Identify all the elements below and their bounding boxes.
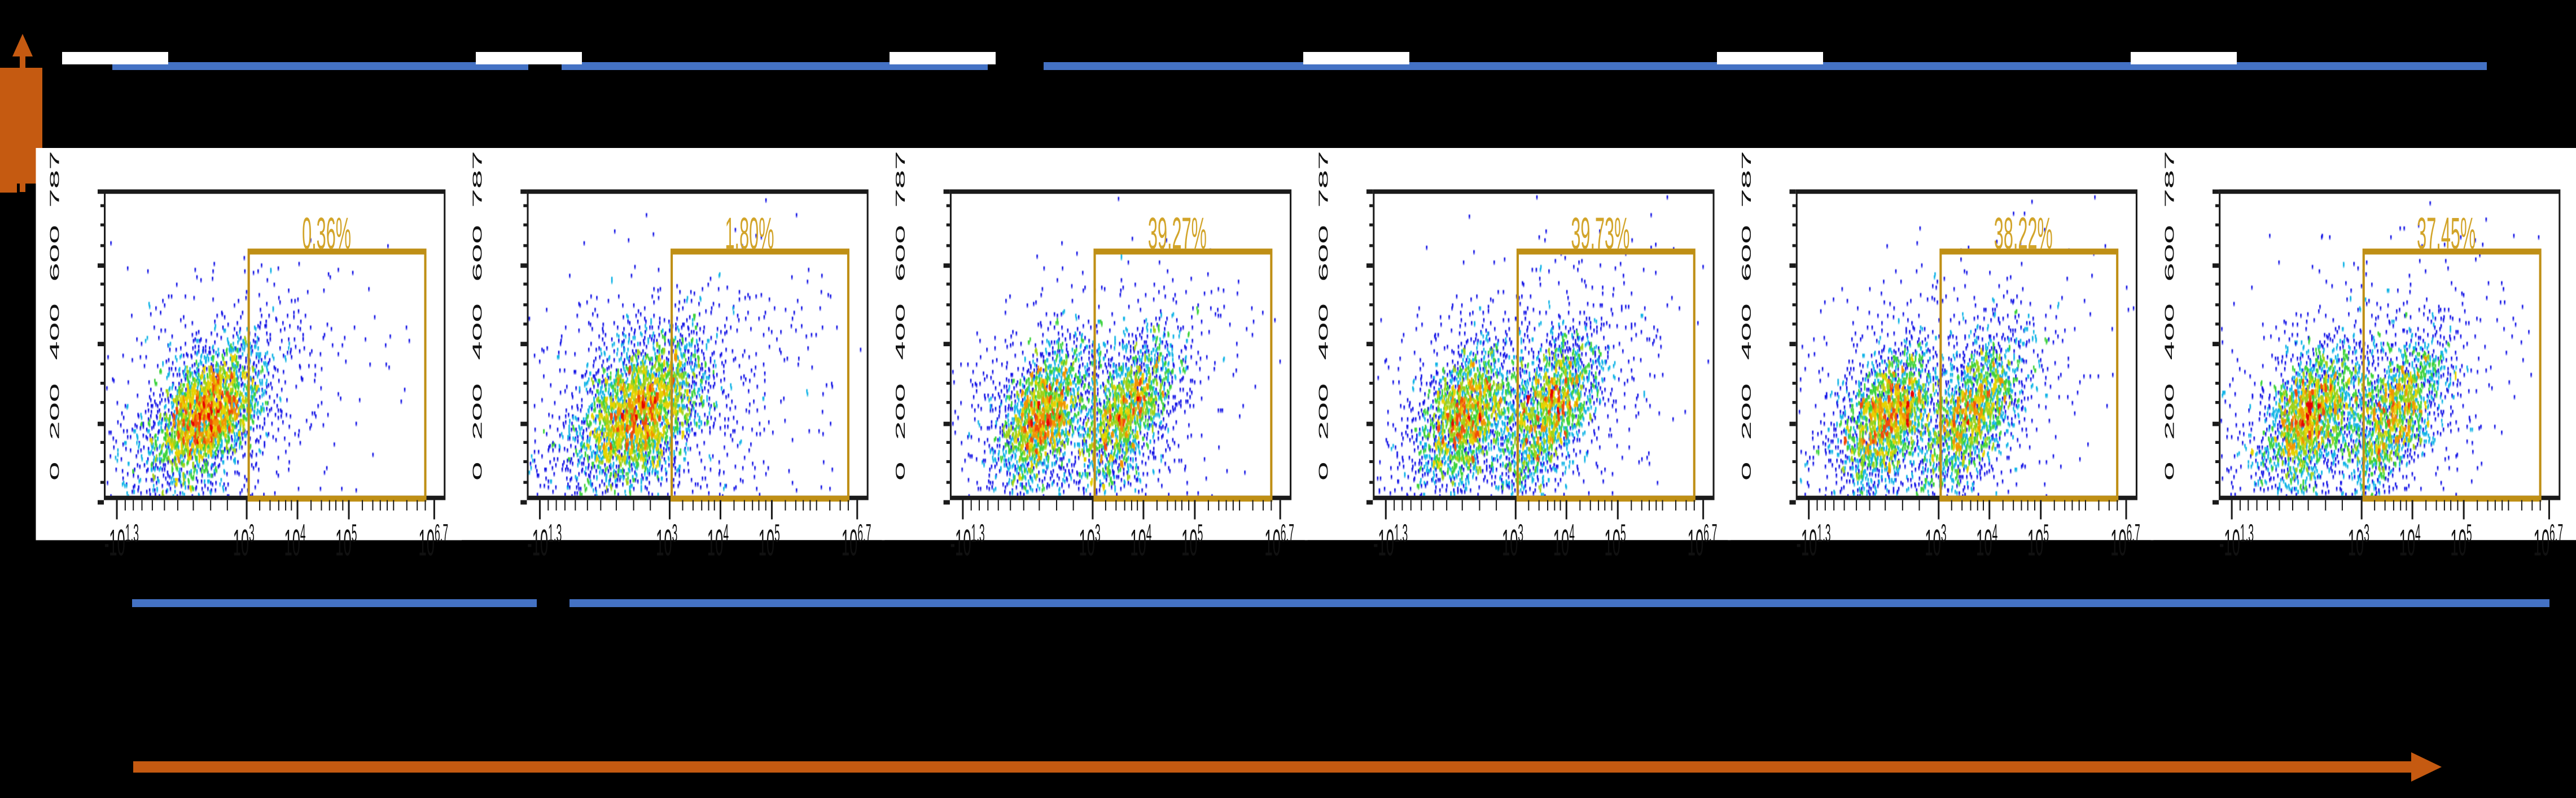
x-tick-minor <box>734 500 735 511</box>
x-tick-major <box>2412 500 2413 520</box>
x-tick-minor <box>2257 500 2258 511</box>
x-tick-minor <box>2054 500 2055 511</box>
x-tick-major <box>1194 500 1196 520</box>
y-tick-major <box>1366 189 1373 194</box>
y-tick-minor <box>100 461 104 464</box>
y-tick-label: 400 <box>894 304 908 361</box>
x-tick-label: 103 <box>1925 521 1946 562</box>
gate-rectangle[interactable] <box>671 248 850 502</box>
y-tick-minor <box>1369 204 1373 207</box>
x-tick-minor <box>601 500 602 511</box>
x-tick-minor <box>556 500 557 511</box>
x-tick-minor <box>744 500 745 511</box>
x-tick-minor <box>586 500 588 511</box>
x-tick-major <box>1280 500 1281 520</box>
x-tick-label: -101.3 <box>2219 521 2254 562</box>
x-tick-major <box>1938 500 1939 520</box>
y-tick-major <box>944 500 950 505</box>
y-tick-minor <box>523 481 527 483</box>
y-tick-minor <box>1793 303 1796 306</box>
x-tick-minor <box>1631 500 1632 511</box>
x-tick-minor <box>2531 500 2533 511</box>
y-tick-minor <box>2215 382 2219 385</box>
y-axis: 7876004002000 <box>882 148 908 540</box>
x-tick-minor <box>1919 500 1920 511</box>
x-tick-minor <box>2521 500 2522 511</box>
plot-area <box>950 189 1291 500</box>
x-tick-minor <box>2109 500 2110 511</box>
x-tick-label: 104 <box>1553 521 1575 562</box>
x-tick-minor <box>2027 500 2029 511</box>
y-tick-label: 400 <box>1740 304 1754 361</box>
y-tick-minor <box>2215 283 2219 286</box>
y-tick-minor <box>947 402 950 404</box>
y-tick-minor <box>2215 204 2219 207</box>
x-tick-minor <box>2451 500 2452 511</box>
y-tick-major <box>98 189 104 194</box>
x-tick-minor <box>417 500 418 511</box>
x-tick-minor <box>1902 500 1903 511</box>
x-tick-label: 104 <box>1976 521 1997 562</box>
x-tick-minor <box>2406 500 2407 511</box>
y-tick-minor <box>947 303 950 306</box>
x-tick-major <box>1514 500 1516 520</box>
y-tick-minor <box>2215 441 2219 444</box>
x-tick-label: 105 <box>2450 521 2472 562</box>
y-tick-minor <box>1369 461 1373 464</box>
x-tick-minor <box>1462 500 1463 511</box>
y-tick-major <box>1366 500 1373 505</box>
x-tick-minor <box>2248 500 2249 511</box>
gate-rectangle[interactable] <box>1517 248 1696 502</box>
y-tick-minor <box>947 461 950 464</box>
y-tick-major <box>1789 500 1795 505</box>
y-tick-minor <box>1793 382 1796 385</box>
x-tick-minor <box>979 500 980 511</box>
x-tick-minor <box>616 500 617 511</box>
y-tick-major <box>2213 263 2219 268</box>
y-tick-minor <box>1369 224 1373 226</box>
x-tick-major <box>539 500 541 520</box>
y-tick-minor <box>100 303 104 306</box>
x-tick-minor <box>1055 500 1057 511</box>
x-tick-minor <box>2034 500 2035 511</box>
y-tick-minor <box>2215 224 2219 226</box>
y-tick-minor <box>947 204 950 207</box>
y-tick-minor <box>100 481 104 483</box>
x-tick-major <box>1617 500 1619 520</box>
x-tick-major <box>116 500 117 520</box>
x-tick-minor <box>650 500 651 511</box>
y-tick-label: 400 <box>471 304 484 361</box>
y-tick-minor <box>1793 362 1796 365</box>
x-tick-minor <box>810 500 811 511</box>
x-tick-minor <box>987 500 988 511</box>
y-tick-minor <box>1793 283 1796 286</box>
x-tick-major <box>2463 500 2465 520</box>
y-tick-label: 787 <box>48 151 62 208</box>
redaction-bar-bottom-1 <box>132 599 537 607</box>
x-tick-label: 103 <box>233 521 255 562</box>
x-tick-minor <box>2425 500 2426 511</box>
plot-area <box>2219 189 2560 500</box>
x-tick-minor <box>2342 500 2343 511</box>
x-tick-label: -101.3 <box>104 521 139 562</box>
x-tick-minor <box>1496 500 1497 511</box>
panel-tab-notch <box>890 52 996 64</box>
y-tick-major <box>98 263 104 268</box>
x-tick-label: 103 <box>1079 521 1101 562</box>
gate-rectangle[interactable] <box>1939 248 2119 502</box>
x-tick-minor <box>278 500 279 511</box>
y-tick-minor <box>947 362 950 365</box>
x-tick-minor <box>1252 500 1254 511</box>
x-tick-minor <box>1590 500 1591 511</box>
x-tick-minor <box>1951 500 1952 511</box>
x-tick-minor <box>291 500 292 511</box>
x-tick-minor <box>1073 500 1074 511</box>
y-tick-minor <box>523 283 527 286</box>
x-tick-minor <box>1208 500 1209 511</box>
x-tick-minor <box>1239 500 1241 511</box>
y-tick-major <box>944 421 950 426</box>
x-tick-minor <box>1961 500 1962 511</box>
x-tick-major <box>433 500 435 520</box>
y-tick-minor <box>947 441 950 444</box>
x-tick-label: 106.7 <box>1688 521 1718 562</box>
y-tick-label: 0 <box>471 461 484 481</box>
x-tick-label: 106.7 <box>842 521 871 562</box>
y-tick-minor <box>2215 322 2219 325</box>
y-tick-minor <box>947 283 950 286</box>
panel-2: 78760040020001.80%-101.3103104105106.7 <box>459 148 885 540</box>
x-tick-minor <box>547 500 549 511</box>
x-tick-minor <box>1124 500 1125 511</box>
y-tick-minor <box>100 322 104 325</box>
x-tick-label: 106.7 <box>2534 521 2564 562</box>
gate-percentage-label: 38.22% <box>1994 210 2053 260</box>
plot-area <box>1796 189 2137 500</box>
y-tick-minor <box>2215 303 2219 306</box>
x-tick-minor <box>124 500 125 511</box>
x-tick-major <box>1566 500 1567 520</box>
y-tick-minor <box>947 382 950 385</box>
y-tick-minor <box>1793 224 1796 226</box>
x-tick-minor <box>1156 500 1158 511</box>
x-tick-minor <box>1560 500 1561 511</box>
x-tick-major <box>669 500 671 520</box>
x-tick-minor <box>1218 500 1219 511</box>
x-tick-minor <box>2085 500 2086 511</box>
plot-area <box>1373 189 1714 500</box>
y-tick-minor <box>2215 243 2219 246</box>
panel-tab-notch <box>2131 52 2237 64</box>
y-tick-label: 200 <box>894 383 908 440</box>
x-tick-minor <box>2239 500 2240 511</box>
x-tick-label: -101.3 <box>1373 521 1408 562</box>
x-tick-minor <box>1115 500 1116 511</box>
y-tick-major <box>520 500 527 505</box>
x-tick-major <box>1989 500 1991 520</box>
y-tick-major <box>2213 189 2219 194</box>
x-tick-minor <box>1175 500 1176 511</box>
y-tick-label: 600 <box>1317 225 1330 282</box>
y-tick-minor <box>523 362 527 365</box>
y-tick-major <box>944 263 950 268</box>
x-tick-minor <box>321 500 322 511</box>
x-tick-minor <box>259 500 260 511</box>
x-tick-major <box>2231 500 2232 520</box>
panel-tab-notch <box>62 52 168 64</box>
y-tick-minor <box>523 243 527 246</box>
x-tick-minor <box>1598 500 1599 511</box>
panel-6: 787600400200037.45%-101.3103104105106.7 <box>2150 148 2576 540</box>
gate-percentage-label: 39.73% <box>1571 210 1629 260</box>
y-tick-label: 600 <box>48 225 62 282</box>
y-axis: 7876004002000 <box>1728 148 1754 540</box>
x-tick-minor <box>785 500 786 511</box>
x-tick-minor <box>1539 500 1540 511</box>
x-tick-minor <box>270 500 271 511</box>
y-tick-major <box>520 342 527 347</box>
x-tick-minor <box>1843 500 1845 511</box>
redaction-bar-top-1 <box>112 62 528 70</box>
y-tick-minor <box>100 382 104 385</box>
x-tick-minor <box>564 500 566 511</box>
x-tick-major <box>962 500 963 520</box>
panel-5: 787600400200038.22%-101.3103104105106.7 <box>1728 148 2154 540</box>
x-tick-minor <box>1188 500 1189 511</box>
x-tick-minor <box>1421 500 1422 511</box>
x-tick-major <box>297 500 299 520</box>
y-tick-minor <box>1793 441 1796 444</box>
y-tick-minor <box>523 461 527 464</box>
gate-rectangle[interactable] <box>1093 248 1273 502</box>
y-tick-minor <box>100 441 104 444</box>
x-tick-minor <box>2279 500 2280 511</box>
x-tick-minor <box>701 500 702 511</box>
x-tick-minor <box>393 500 395 511</box>
y-tick-minor <box>947 481 950 483</box>
x-tick-minor <box>633 500 634 511</box>
y-tick-major <box>2213 500 2219 505</box>
x-tick-minor <box>1977 500 1978 511</box>
y-tick-label: 200 <box>1740 383 1754 440</box>
x-tick-major <box>1808 500 1810 520</box>
y-tick-major <box>944 342 950 347</box>
x-tick-minor <box>1685 500 1686 511</box>
y-tick-label: 787 <box>1317 151 1330 208</box>
x-tick-major <box>1702 500 1704 520</box>
x-tick-label: 104 <box>707 521 729 562</box>
x-tick-minor <box>1869 500 1870 511</box>
x-tick-minor <box>998 500 999 511</box>
x-tick-minor <box>2443 500 2444 511</box>
y-tick-major <box>1789 342 1795 347</box>
y-tick-label: 400 <box>1317 304 1330 361</box>
x-tick-major <box>2548 500 2550 520</box>
x-tick-minor <box>372 500 373 511</box>
x-tick-major <box>2040 500 2041 520</box>
x-tick-minor <box>1547 500 1548 511</box>
redaction-bar-bottom-2 <box>569 599 2549 607</box>
x-tick-minor <box>1226 500 1227 511</box>
x-tick-major <box>2360 500 2362 520</box>
x-tick-minor <box>2477 500 2478 511</box>
y-tick-minor <box>1369 243 1373 246</box>
x-tick-minor <box>2375 500 2376 511</box>
x-tick-major <box>1385 500 1386 520</box>
y-tick-minor <box>523 322 527 325</box>
x-tick-minor <box>795 500 796 511</box>
y-tick-minor <box>523 303 527 306</box>
x-tick-minor <box>803 500 804 511</box>
x-tick-minor <box>2013 500 2014 511</box>
x-tick-minor <box>2307 500 2308 511</box>
x-tick-minor <box>1579 500 1580 511</box>
x-tick-minor <box>2435 500 2437 511</box>
y-tick-label: 0 <box>894 461 908 481</box>
y-tick-label: 787 <box>1740 151 1754 208</box>
plot-area <box>104 189 445 500</box>
y-tick-label: 200 <box>1317 383 1330 440</box>
gate-percentage-label: 0.36% <box>302 210 351 260</box>
x-tick-minor <box>1446 500 1447 511</box>
x-tick-minor <box>387 500 388 511</box>
horizontal-axis-arrow <box>133 751 2442 783</box>
x-tick-minor <box>1010 500 1011 511</box>
y-axis: 7876004002000 <box>459 148 485 540</box>
gate-percentage-label: 1.80% <box>725 210 774 260</box>
y-tick-major <box>1366 263 1373 268</box>
x-tick-minor <box>2508 500 2509 511</box>
flow-cytometry-panel-strip: 78760040020000.36%-101.3103104105106.778… <box>0 148 2576 225</box>
panel-1: 78760040020000.36%-101.3103104105106.7 <box>36 148 462 540</box>
x-tick-minor <box>575 500 576 511</box>
y-tick-minor <box>1793 402 1796 404</box>
x-tick-minor <box>1662 500 1663 511</box>
x-tick-minor <box>152 500 153 511</box>
x-tick-minor <box>2495 500 2496 511</box>
y-tick-minor <box>1369 481 1373 483</box>
x-tick-minor <box>425 500 426 511</box>
x-tick-minor <box>1131 500 1132 511</box>
x-tick-label: 104 <box>2399 521 2421 562</box>
x-tick-minor <box>2325 500 2326 511</box>
x-tick-minor <box>1039 500 1040 511</box>
y-tick-major <box>1366 342 1373 347</box>
x-tick-label: 105 <box>1605 521 1626 562</box>
y-tick-minor <box>2215 362 2219 365</box>
x-tick-label: 106.7 <box>419 521 449 562</box>
x-tick-minor <box>970 500 971 511</box>
x-tick-minor <box>1675 500 1676 511</box>
x-tick-minor <box>2064 500 2065 511</box>
x-tick-major <box>857 500 858 520</box>
y-tick-minor <box>2215 402 2219 404</box>
y-tick-minor <box>2215 461 2219 464</box>
x-tick-minor <box>335 500 336 511</box>
panel-tab-notch <box>1303 52 1409 64</box>
y-tick-minor <box>523 441 527 444</box>
x-tick-minor <box>816 500 817 511</box>
x-tick-minor <box>192 500 194 511</box>
x-tick-minor <box>2267 500 2268 511</box>
x-tick-label: 104 <box>1130 521 1151 562</box>
x-tick-minor <box>1528 500 1530 511</box>
y-tick-minor <box>100 243 104 246</box>
y-tick-label: 600 <box>1740 225 1754 282</box>
panel-tab-notch <box>476 52 582 64</box>
y-tick-major <box>520 263 527 268</box>
x-tick-minor <box>1649 500 1650 511</box>
y-tick-label: 600 <box>2163 225 2176 282</box>
x-tick-major <box>2126 500 2127 520</box>
panel-4: 787600400200039.73%-101.3103104105106.7 <box>1305 148 1731 540</box>
y-tick-label: 200 <box>471 383 484 440</box>
x-tick-major <box>771 500 773 520</box>
panel-3: 787600400200039.27%-101.3103104105106.7 <box>882 148 1308 540</box>
y-tick-minor <box>1369 283 1373 286</box>
y-tick-label: 0 <box>1317 461 1330 481</box>
x-tick-label: 105 <box>759 521 780 562</box>
y-tick-minor <box>1369 382 1373 385</box>
x-tick-minor <box>2292 500 2293 511</box>
x-tick-minor <box>310 500 312 511</box>
panel-tab-notch <box>1717 52 1823 64</box>
x-tick-label: 104 <box>284 521 306 562</box>
x-tick-minor <box>1825 500 1826 511</box>
y-tick-minor <box>523 382 527 385</box>
y-tick-major <box>520 421 527 426</box>
y-tick-minor <box>1369 303 1373 306</box>
y-tick-major <box>1789 189 1795 194</box>
x-tick-label: 105 <box>335 521 357 562</box>
y-tick-minor <box>947 322 950 325</box>
x-tick-label: -101.3 <box>527 521 562 562</box>
y-tick-label: 400 <box>48 304 62 361</box>
y-tick-major <box>520 189 527 194</box>
y-tick-minor <box>1793 481 1796 483</box>
x-tick-minor <box>1105 500 1106 511</box>
x-tick-minor <box>2072 500 2073 511</box>
x-tick-minor <box>2003 500 2004 511</box>
x-tick-minor <box>1641 500 1642 511</box>
y-tick-label: 600 <box>894 225 908 282</box>
y-tick-label: 0 <box>2163 461 2176 481</box>
x-tick-minor <box>342 500 343 511</box>
y-tick-minor <box>947 243 950 246</box>
x-tick-minor <box>164 500 165 511</box>
x-tick-minor <box>682 500 684 511</box>
gate-rectangle[interactable] <box>2362 248 2542 502</box>
gate-rectangle[interactable] <box>247 248 427 502</box>
x-tick-minor <box>1554 500 1555 511</box>
x-tick-minor <box>1885 500 1886 511</box>
x-tick-major <box>246 500 247 520</box>
x-tick-minor <box>2487 500 2488 511</box>
y-tick-major <box>1366 421 1373 426</box>
x-tick-minor <box>1394 500 1395 511</box>
x-tick-minor <box>693 500 694 511</box>
x-tick-label: 103 <box>656 521 677 562</box>
x-tick-minor <box>1181 500 1182 511</box>
x-tick-minor <box>752 500 753 511</box>
y-tick-label: 0 <box>1740 461 1754 481</box>
x-tick-minor <box>1023 500 1024 511</box>
x-tick-minor <box>2117 500 2118 511</box>
y-tick-label: 787 <box>2163 151 2176 208</box>
